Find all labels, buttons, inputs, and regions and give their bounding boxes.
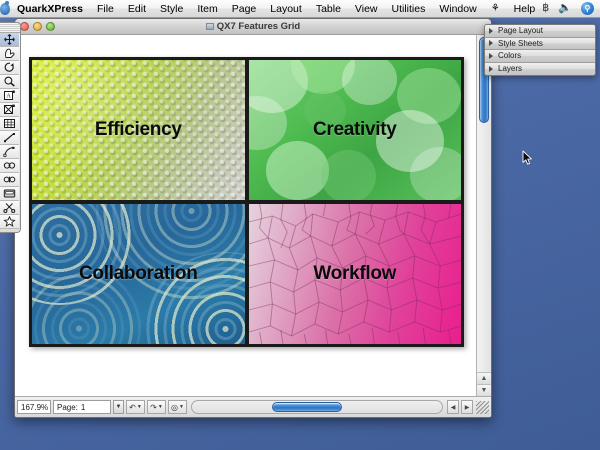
spotlight-icon[interactable]: ⚲	[581, 2, 594, 15]
rotation-tool[interactable]	[0, 61, 19, 75]
menu-quarkxpress[interactable]: QuarkXPress	[10, 0, 90, 17]
chevron-right-icon[interactable]	[489, 28, 493, 34]
link-tool[interactable]	[0, 159, 19, 173]
tool-palette-grip[interactable]	[0, 24, 20, 33]
palette-style-sheets-label: Style Sheets	[498, 39, 543, 48]
mouse-cursor	[522, 150, 533, 171]
page-stepper-button[interactable]: ▼	[113, 400, 124, 414]
palette-style-sheets[interactable]: Style Sheets	[485, 38, 595, 51]
bokeh-circle	[342, 60, 397, 105]
content-tool[interactable]	[0, 47, 19, 61]
menu-item[interactable]: Item	[190, 0, 224, 17]
picture-box-tool[interactable]	[0, 103, 19, 117]
preview-button[interactable]: ◎▼	[168, 400, 187, 414]
window-title-text: QX7 Features Grid	[217, 21, 300, 32]
bokeh-circle	[266, 141, 330, 200]
undo-button[interactable]: ↶▼	[126, 400, 145, 414]
proxy-document-icon[interactable]	[206, 23, 214, 30]
bokeh-circle	[321, 150, 376, 200]
tile-collaboration-label: Collaboration	[79, 263, 198, 285]
redo-icon: ↷	[150, 403, 157, 412]
scroll-right-button[interactable]: ▶	[461, 400, 473, 414]
vertical-scrollbar[interactable]: ▲ ▼	[476, 35, 491, 396]
table-tool[interactable]	[0, 117, 19, 131]
menu-page[interactable]: Page	[225, 0, 264, 17]
menu-edit[interactable]: Edit	[121, 0, 153, 17]
chevron-right-icon[interactable]	[489, 53, 493, 59]
palette-layers-label: Layers	[498, 64, 522, 73]
minimize-button[interactable]	[33, 22, 42, 31]
window-title: QX7 Features Grid	[15, 21, 491, 32]
zoom-value: 167.9%	[21, 403, 48, 412]
zoom-tool[interactable]	[0, 75, 19, 89]
page-field[interactable]: Page: 1	[53, 400, 111, 414]
menu-help[interactable]: Help	[507, 0, 543, 17]
bokeh-circle	[410, 147, 461, 200]
menu-bar-status-area: ฿ 🔈 ⚲	[542, 2, 600, 15]
line-tool[interactable]	[0, 131, 19, 145]
menu-bar: QuarkXPress File Edit Style Item Page La…	[0, 0, 600, 18]
palette-page-layout-label: Page Layout	[498, 26, 543, 35]
palette-page-layout[interactable]: Page Layout	[485, 25, 595, 38]
unlink-tool[interactable]	[0, 173, 19, 187]
horizontal-scrollbar-thumb[interactable]	[272, 402, 342, 412]
zoom-button[interactable]	[46, 22, 55, 31]
palette-colors[interactable]: Colors	[485, 50, 595, 63]
document-status-bar: 167.9% Page: 1 ▼ ↶▼ ↷▼ ◎▼ ◀ ▶	[15, 396, 491, 417]
menu-table[interactable]: Table	[309, 0, 348, 17]
palette-colors-label: Colors	[498, 51, 521, 60]
tool-palette: A	[0, 22, 21, 233]
menu-style[interactable]: Style	[153, 0, 190, 17]
document-canvas[interactable]: Efficiency Creativity	[15, 35, 476, 396]
volume-icon[interactable]: 🔈	[558, 3, 572, 14]
menu-utilities[interactable]: Utilities	[385, 0, 433, 17]
starburst-tool[interactable]	[0, 215, 19, 229]
menu-view[interactable]: View	[348, 0, 385, 17]
palette-layers[interactable]: Layers	[485, 63, 595, 76]
menu-layout[interactable]: Layout	[263, 0, 309, 17]
tile-efficiency-label: Efficiency	[95, 119, 182, 141]
menu-window[interactable]: Window	[432, 0, 483, 17]
document-page[interactable]: Efficiency Creativity	[29, 57, 464, 347]
chevron-right-icon[interactable]	[489, 66, 493, 72]
scroll-left-button[interactable]: ◀	[447, 400, 459, 414]
close-button[interactable]	[20, 22, 29, 31]
preview-icon: ◎	[171, 403, 178, 412]
page-label: Page:	[57, 403, 78, 412]
text-box-tool[interactable]: A	[0, 89, 19, 103]
palette-stack: Page Layout Style Sheets Colors Layers	[484, 24, 596, 76]
item-tool[interactable]	[0, 33, 19, 47]
tile-efficiency[interactable]: Efficiency	[32, 60, 245, 200]
scissors-tool[interactable]	[0, 201, 19, 215]
window-title-bar[interactable]: QX7 Features Grid	[15, 19, 491, 35]
document-body: Efficiency Creativity	[15, 35, 491, 417]
apple-logo-icon	[0, 3, 10, 15]
script-menu-icon[interactable]: ⚘	[484, 0, 507, 17]
scroll-down-button[interactable]: ▼	[477, 384, 491, 396]
bezier-pen-tool[interactable]	[0, 145, 19, 159]
tile-workflow-label: Workflow	[313, 263, 396, 285]
redo-button[interactable]: ↷▼	[147, 400, 166, 414]
apple-menu-button[interactable]	[0, 0, 10, 17]
tile-creativity-label: Creativity	[313, 119, 397, 141]
tile-workflow[interactable]: Workflow	[249, 204, 462, 344]
scroll-up-button[interactable]: ▲	[477, 372, 491, 384]
menu-file[interactable]: File	[90, 0, 121, 17]
tile-creativity[interactable]: Creativity	[249, 60, 462, 200]
window-resize-grip[interactable]	[476, 401, 489, 414]
zoom-field[interactable]: 167.9%	[17, 400, 51, 414]
tile-collaboration[interactable]: Collaboration	[32, 204, 245, 344]
chevron-right-icon[interactable]	[489, 40, 493, 46]
composition-zone-tool[interactable]	[0, 187, 19, 201]
svg-text:A: A	[6, 93, 11, 100]
horizontal-scrollbar[interactable]	[191, 400, 443, 414]
document-window: QX7 Features Grid Efficiency	[14, 18, 492, 418]
undo-icon: ↶	[129, 403, 136, 412]
bluetooth-icon[interactable]: ฿	[542, 3, 549, 14]
window-controls	[15, 22, 55, 31]
feature-grid: Efficiency Creativity	[32, 60, 461, 344]
page-number: 1	[81, 403, 85, 412]
